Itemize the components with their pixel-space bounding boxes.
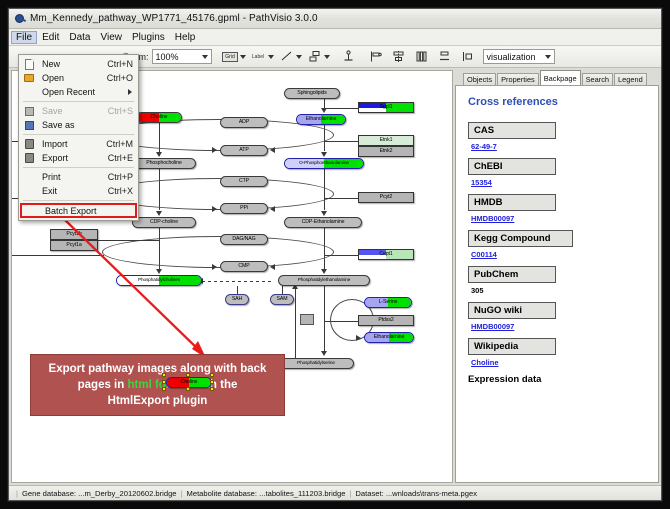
file-menu-import[interactable]: Import Ctrl+M bbox=[19, 137, 138, 151]
new-page-icon bbox=[21, 58, 37, 71]
menu-data[interactable]: Data bbox=[64, 31, 95, 44]
xref-label: CAS bbox=[468, 122, 556, 139]
xref-value-link[interactable]: HMDB00097 bbox=[471, 322, 646, 331]
xref-label: Kegg Compound bbox=[468, 230, 573, 247]
xref-value-link[interactable]: HMDB00097 bbox=[471, 214, 646, 223]
screenshot-root: Mm_Kennedy_pathway_WP1771_45176.gpml - P… bbox=[0, 0, 670, 509]
visualization-select[interactable]: visualization bbox=[483, 49, 555, 64]
backpage-panel: Cross references CAS 62-49-7 ChEBI 15354… bbox=[455, 85, 659, 483]
callout-line-2-a: pages in bbox=[78, 379, 128, 391]
tab-legend[interactable]: Legend bbox=[614, 73, 647, 85]
xref-nugo-wiki: NuGO wiki HMDB00097 bbox=[468, 302, 646, 331]
pathvisio-icon bbox=[13, 12, 26, 25]
selection-handle[interactable] bbox=[210, 373, 214, 377]
submenu-arrow-icon bbox=[128, 89, 132, 95]
file-menu-save: Save Ctrl+S bbox=[19, 104, 138, 118]
tab-search[interactable]: Search bbox=[582, 73, 613, 85]
line-icon[interactable] bbox=[278, 48, 295, 65]
callout-line-3: HtmlExport plugin bbox=[108, 393, 208, 409]
xref-value-link[interactable]: 62-49-7 bbox=[471, 142, 646, 151]
file-menu-export[interactable]: Export Ctrl+E bbox=[19, 151, 138, 165]
save-icon bbox=[21, 105, 37, 118]
tab-backpage[interactable]: Backpage bbox=[540, 70, 581, 85]
status-bar: | Gene database: ...m_Derby_20120602.bri… bbox=[9, 485, 661, 500]
xref-value-link[interactable]: C00114 bbox=[471, 250, 646, 259]
selection-handle[interactable] bbox=[186, 387, 190, 391]
menu-edit[interactable]: Edit bbox=[37, 31, 64, 44]
xref-label: ChEBI bbox=[468, 158, 556, 175]
open-folder-icon bbox=[21, 72, 37, 85]
selection-handle[interactable] bbox=[210, 380, 214, 384]
menu-divider bbox=[23, 167, 134, 168]
menu-divider bbox=[23, 200, 134, 201]
menu-plugins[interactable]: Plugins bbox=[127, 31, 170, 44]
align-left-icon[interactable] bbox=[367, 48, 384, 65]
line-dropdown-icon[interactable] bbox=[296, 55, 302, 59]
menu-view[interactable]: View bbox=[95, 31, 127, 44]
file-menu-dropdown[interactable]: New Ctrl+N Open Ctrl+O Open Recent Save … bbox=[18, 54, 139, 221]
xref-value-link[interactable]: 15354 bbox=[471, 178, 646, 187]
menu-divider bbox=[23, 134, 134, 135]
sidebar-panel: Objects Properties Backpage Search Legen… bbox=[455, 70, 659, 483]
tab-objects[interactable]: Objects bbox=[463, 73, 496, 85]
status-divider: | bbox=[349, 489, 351, 498]
callout-line-1: Export pathway images along with back bbox=[49, 361, 267, 377]
export-icon bbox=[21, 152, 37, 165]
align-center-icon[interactable] bbox=[390, 48, 407, 65]
status-divider: | bbox=[16, 489, 18, 498]
selection-handle[interactable] bbox=[210, 387, 214, 391]
menu-bar: File Edit Data View Plugins Help bbox=[9, 29, 661, 46]
window-title: Mm_Kennedy_pathway_WP1771_45176.gpml - P… bbox=[30, 13, 318, 24]
anchor-icon[interactable] bbox=[340, 48, 357, 65]
xref-value-link[interactable]: Choline bbox=[471, 358, 646, 367]
xref-label: Wikipedia bbox=[468, 338, 556, 355]
file-menu-batch-export[interactable]: Batch Export bbox=[20, 203, 137, 218]
zoom-value: 100% bbox=[156, 52, 179, 62]
xref-label: PubChem bbox=[468, 266, 556, 283]
distribute-icon[interactable] bbox=[413, 48, 430, 65]
file-menu-exit[interactable]: Exit Ctrl+X bbox=[19, 184, 138, 198]
backpage-content: Cross references CAS 62-49-7 ChEBI 15354… bbox=[456, 86, 658, 482]
label-icon[interactable]: Label bbox=[250, 48, 267, 65]
xref-cas: CAS 62-49-7 bbox=[468, 122, 646, 151]
xref-value: 305 bbox=[471, 286, 646, 295]
label-dropdown-icon[interactable] bbox=[268, 55, 274, 59]
selection-handle[interactable] bbox=[186, 373, 190, 377]
cross-references-heading: Cross references bbox=[468, 96, 646, 108]
annotation-callout: Export pathway images along with back pa… bbox=[30, 354, 285, 416]
group-icon[interactable] bbox=[459, 48, 476, 65]
chevron-down-icon bbox=[202, 55, 208, 59]
save-as-icon bbox=[21, 119, 37, 132]
dataset-value: ...wnloads\trans-meta.pgex bbox=[386, 489, 477, 498]
xref-label: NuGO wiki bbox=[468, 302, 556, 319]
chevron-down-icon bbox=[545, 55, 551, 59]
zoom-select[interactable]: 100% bbox=[152, 49, 212, 64]
shape-dropdown-icon[interactable] bbox=[324, 55, 330, 59]
status-divider: | bbox=[181, 489, 183, 498]
metabolite-db-value: ...tabolites_111203.bridge bbox=[259, 489, 345, 498]
xref-chebi: ChEBI 15354 bbox=[468, 158, 646, 187]
selection-handle[interactable] bbox=[162, 380, 166, 384]
shape-icon[interactable] bbox=[306, 48, 323, 65]
gene-db-value: ...m_Derby_20120602.bridge bbox=[78, 489, 176, 498]
xref-kegg-compound: Kegg Compound C00114 bbox=[468, 230, 646, 259]
file-menu-open-recent[interactable]: Open Recent bbox=[19, 85, 138, 99]
selection-handle[interactable] bbox=[162, 373, 166, 377]
selection-handle[interactable] bbox=[162, 387, 166, 391]
menu-file[interactable]: File bbox=[11, 31, 37, 44]
visualization-value: visualization bbox=[487, 52, 536, 62]
grid-icon[interactable]: Grid bbox=[222, 48, 239, 65]
stack-icon[interactable] bbox=[436, 48, 453, 65]
file-menu-open[interactable]: Open Ctrl+O bbox=[19, 71, 138, 85]
sidebar-tabstrip: Objects Properties Backpage Search Legen… bbox=[455, 70, 659, 85]
title-bar: Mm_Kennedy_pathway_WP1771_45176.gpml - P… bbox=[9, 9, 661, 29]
tab-properties[interactable]: Properties bbox=[497, 73, 539, 85]
file-menu-new[interactable]: New Ctrl+N bbox=[19, 57, 138, 71]
dataset-label: Dataset: bbox=[355, 489, 383, 498]
import-icon bbox=[21, 138, 37, 151]
file-menu-save-as[interactable]: Save as bbox=[19, 118, 138, 132]
metabolite-db-label: Metabolite database: bbox=[187, 489, 258, 498]
gene-db-label: Gene database: bbox=[22, 489, 76, 498]
pathvisio-window: Mm_Kennedy_pathway_WP1771_45176.gpml - P… bbox=[8, 8, 662, 501]
xref-pubchem: PubChem 305 bbox=[468, 266, 646, 295]
menu-help[interactable]: Help bbox=[170, 31, 201, 44]
file-menu-print[interactable]: Print Ctrl+P bbox=[19, 170, 138, 184]
xref-wikipedia: Wikipedia Choline bbox=[468, 338, 646, 367]
xref-hmdb: HMDB HMDB00097 bbox=[468, 194, 646, 223]
grid-dropdown-icon[interactable] bbox=[240, 55, 246, 59]
expression-data-heading: Expression data bbox=[468, 374, 646, 385]
menu-divider bbox=[23, 101, 134, 102]
xref-label: HMDB bbox=[468, 194, 556, 211]
